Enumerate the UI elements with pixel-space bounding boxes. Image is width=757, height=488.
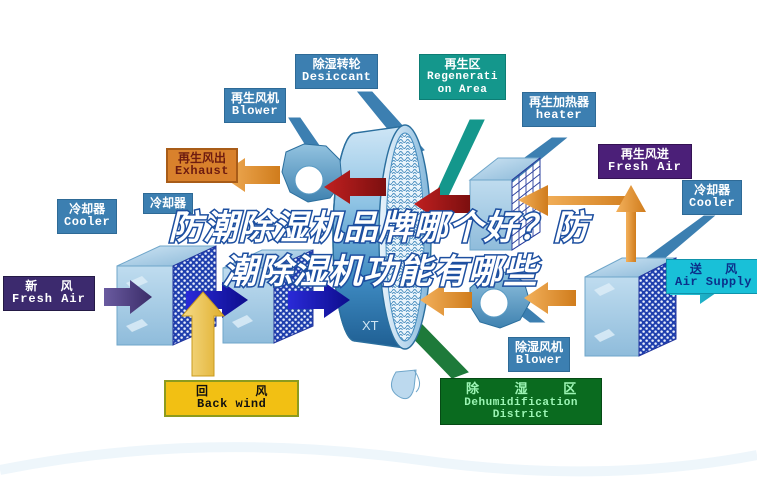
label-regeneration-area-en: Regenerati — [427, 71, 498, 83]
label-regeneration-fresh-air-cn: 再生风进 — [608, 148, 682, 161]
page-title-line-1: 防潮除湿机品牌哪个好？防 — [0, 206, 757, 250]
label-regeneration-blower-en: Blower — [231, 105, 279, 118]
label-desiccant-en: Desiccant — [302, 71, 371, 84]
label-dehumidification-district: 除 湿 区 Dehumidification District — [440, 378, 602, 425]
label-regeneration-heater-en: heater — [529, 109, 589, 122]
label-fresh-air-en: Fresh Air — [12, 293, 86, 306]
label-dehumidification-blower: 除湿风机 Blower — [508, 337, 570, 372]
condensate-drip-shape — [391, 370, 419, 399]
label-dehumidification-district-cn: 除 湿 区 — [450, 382, 592, 397]
label-regeneration-blower-cn: 再生风机 — [231, 92, 279, 105]
label-dehumidification-district-en2: District — [450, 409, 592, 421]
label-regeneration-area-en2: on Area — [427, 84, 498, 96]
label-regeneration-heater: 再生加热器 heater — [522, 92, 596, 127]
label-regeneration-area: 再生区 Regenerati on Area — [419, 54, 506, 100]
page-title: 防潮除湿机品牌哪个好？防 潮除湿机功能有哪些 — [0, 206, 757, 294]
label-cooler-right-cn: 冷却器 — [689, 184, 735, 197]
label-desiccant-cn: 除湿转轮 — [302, 58, 371, 71]
label-back-wind-en: Back wind — [174, 398, 289, 411]
label-back-wind-cn: 回 风 — [174, 385, 289, 398]
label-dehumidification-district-en: Dehumidification — [450, 397, 592, 409]
label-regeneration-blower: 再生风机 Blower — [224, 88, 286, 123]
page-title-line-2: 潮除湿机功能有哪些 — [0, 250, 757, 294]
dehumidifier-flow-diagram: 除湿转轮 Desiccant 再生风机 Blower 再生区 Regenerat… — [0, 0, 757, 488]
label-regeneration-area-cn: 再生区 — [427, 58, 498, 71]
label-exhaust-cn: 再生风出 — [175, 152, 229, 165]
label-desiccant: 除湿转轮 Desiccant — [295, 54, 378, 89]
label-regeneration-fresh-air-en: Fresh Air — [608, 161, 682, 174]
label-dehumidification-blower-en: Blower — [515, 354, 563, 367]
label-exhaust: 再生风出 Exhaust — [166, 148, 238, 183]
label-regeneration-heater-cn: 再生加热器 — [529, 96, 589, 109]
regeneration-blower-fan — [282, 144, 342, 202]
label-exhaust-en: Exhaust — [175, 165, 229, 178]
label-back-wind: 回 风 Back wind — [164, 380, 299, 417]
label-dehumidification-blower-cn: 除湿风机 — [515, 341, 563, 354]
watermark: XT — [362, 318, 379, 333]
label-regeneration-fresh-air: 再生风进 Fresh Air — [598, 144, 692, 179]
